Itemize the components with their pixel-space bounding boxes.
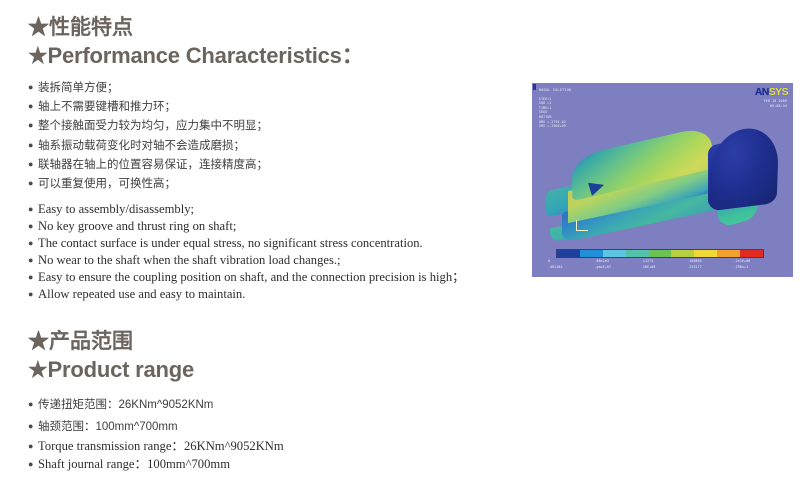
list-item-label: 传递扭矩范围：26KNm^9052KNm: [38, 394, 213, 416]
coupling-3d-model: [532, 83, 793, 277]
colorbar-band: [557, 250, 580, 257]
list-item: ● 传递扭矩范围：26KNm^9052KNm: [28, 394, 213, 416]
colorbar-band: [671, 250, 694, 257]
colorbar-band: [717, 250, 740, 257]
list-item-label: No wear to the shaft when the shaft vibr…: [38, 252, 341, 269]
colorbar-tick: .232277: [687, 265, 733, 269]
fea-analysis-image: NODAL SOLUTION STEP=1 SUB =1 TIME=1 SEQV…: [532, 83, 793, 277]
bullet-dot-icon: ●: [28, 256, 38, 265]
list-item-label: 轴系振动载荷变化时对轴不会造成磨损；: [38, 137, 245, 156]
product-range-heading-cn: ★产品范围: [28, 328, 194, 355]
list-item-label: 整个接触面受力较为均匀，应力集中不明显；: [38, 117, 268, 136]
colorbar-band: [603, 250, 626, 257]
list-item-label: 可以重复使用，可换性高；: [38, 175, 176, 194]
colorbar-tick: 0: [548, 259, 594, 263]
colorbar-band: [626, 250, 649, 257]
list-item: ● 轴颈范围：100mm^700mm: [28, 416, 213, 438]
list-item: ● Allow repeated use and easy to maintai…: [28, 286, 465, 303]
slide-page: ★性能特点 ★Performance Characteristics： ● 装拆…: [0, 0, 811, 477]
list-item: ● 可以重复使用，可换性高；: [28, 175, 268, 194]
product-range-bullets-cn: ● 传递扭矩范围：26KNm^9052KNm ● 轴颈范围：100mm^700m…: [28, 394, 213, 438]
colorbar-tick: .80x1e3: [594, 259, 640, 263]
list-item-label: Easy to assembly/disassembly;: [38, 201, 194, 218]
list-item: ● Shaft journal range：100mm^700mm: [28, 456, 284, 474]
list-item-label: The contact surface is under equal stres…: [38, 235, 423, 252]
colorbar-ticks-top: 0 .80x1e3 .11273 .188805 .2x1E+08: [548, 259, 780, 263]
colorbar-band: [694, 250, 717, 257]
list-item-label: Torque transmission range：26KNm^9052KNm: [38, 438, 284, 456]
bullet-dot-icon: ●: [28, 422, 38, 431]
bullet-dot-icon: ●: [28, 121, 38, 130]
product-range-heading-en: ★Product range: [28, 355, 194, 384]
list-item-label: 联轴器在轴上的位置容易保证，连接精度高；: [38, 156, 268, 175]
list-item: ● Easy to ensure the coupling position o…: [28, 269, 465, 286]
bullet-dot-icon: ●: [28, 222, 38, 231]
colorbar-tick: .188805: [687, 259, 733, 263]
bullet-dot-icon: ●: [28, 83, 38, 92]
bullet-dot-icon: ●: [28, 102, 38, 111]
bullet-dot-icon: ●: [28, 290, 38, 299]
list-item-label: 轴上不需要键槽和推力环；: [38, 98, 176, 117]
list-item-label: Easy to ensure the coupling position on …: [38, 269, 465, 286]
product-range-heading-block: ★产品范围 ★Product range: [28, 328, 194, 384]
list-item-label: No key groove and thrust ring on shaft;: [38, 218, 236, 235]
performance-bullets-en: ● Easy to assembly/disassembly; ● No key…: [28, 201, 465, 303]
bullet-dot-icon: ●: [28, 400, 38, 409]
list-item: ● 轴系振动载荷变化时对轴不会造成磨损；: [28, 137, 268, 156]
list-item: ● Easy to assembly/disassembly;: [28, 201, 465, 218]
performance-bullets-cn: ● 装拆简单方便； ● 轴上不需要键槽和推力环； ● 整个接触面受力较为均匀，应…: [28, 79, 268, 194]
colorbar-band: [580, 250, 603, 257]
colorbar-tick: .401182: [548, 265, 594, 269]
colorbar-tick: .16E+08: [641, 265, 687, 269]
list-item: ● The contact surface is under equal str…: [28, 235, 465, 252]
list-item-label: 装拆简单方便；: [38, 79, 119, 98]
colorbar-band: [740, 250, 763, 257]
list-item: ● 装拆简单方便；: [28, 79, 268, 98]
colorbar-band: [649, 250, 672, 257]
bullet-dot-icon: ●: [28, 141, 38, 150]
bullet-dot-icon: ●: [28, 239, 38, 248]
bullet-dot-icon: ●: [28, 460, 38, 469]
bullet-dot-icon: ●: [28, 205, 38, 214]
model-hub: [709, 125, 780, 212]
performance-heading-en: ★Performance Characteristics：: [28, 41, 364, 70]
fea-colorbar: [556, 249, 764, 258]
list-item-label: Allow repeated use and easy to maintain.: [38, 286, 245, 303]
bullet-dot-icon: ●: [28, 442, 38, 451]
product-range-bullets-en: ● Torque transmission range：26KNm^9052KN…: [28, 438, 284, 473]
list-item: ● 联轴器在轴上的位置容易保证，连接精度高；: [28, 156, 268, 175]
list-item: ● No wear to the shaft when the shaft vi…: [28, 252, 465, 269]
list-item: ● 轴上不需要键槽和推力环；: [28, 98, 268, 117]
colorbar-tick: .296x+1: [734, 265, 780, 269]
performance-heading-block: ★性能特点 ★Performance Characteristics：: [28, 14, 364, 70]
list-item: ● No key groove and thrust ring on shaft…: [28, 218, 465, 235]
performance-heading-cn: ★性能特点: [28, 14, 364, 41]
colorbar-tick: .2x1E+08: [734, 259, 780, 263]
list-item: ● Torque transmission range：26KNm^9052KN…: [28, 438, 284, 456]
bullet-dot-icon: ●: [28, 179, 38, 188]
list-item-label: Shaft journal range：100mm^700mm: [38, 456, 230, 474]
colorbar-tick: .gaxE+07: [594, 265, 640, 269]
list-item: ● 整个接触面受力较为均匀，应力集中不明显；: [28, 117, 268, 136]
axis-triad-icon: [576, 220, 592, 232]
fea-canvas: NODAL SOLUTION STEP=1 SUB =1 TIME=1 SEQV…: [532, 83, 793, 277]
colorbar-ticks-bottom: .401182 .gaxE+07 .16E+08 .232277 .296x+1: [548, 265, 780, 269]
list-item-label: 轴颈范围：100mm^700mm: [38, 416, 178, 438]
colorbar-tick: .11273: [641, 259, 687, 263]
bullet-dot-icon: ●: [28, 273, 38, 282]
bullet-dot-icon: ●: [28, 160, 38, 169]
